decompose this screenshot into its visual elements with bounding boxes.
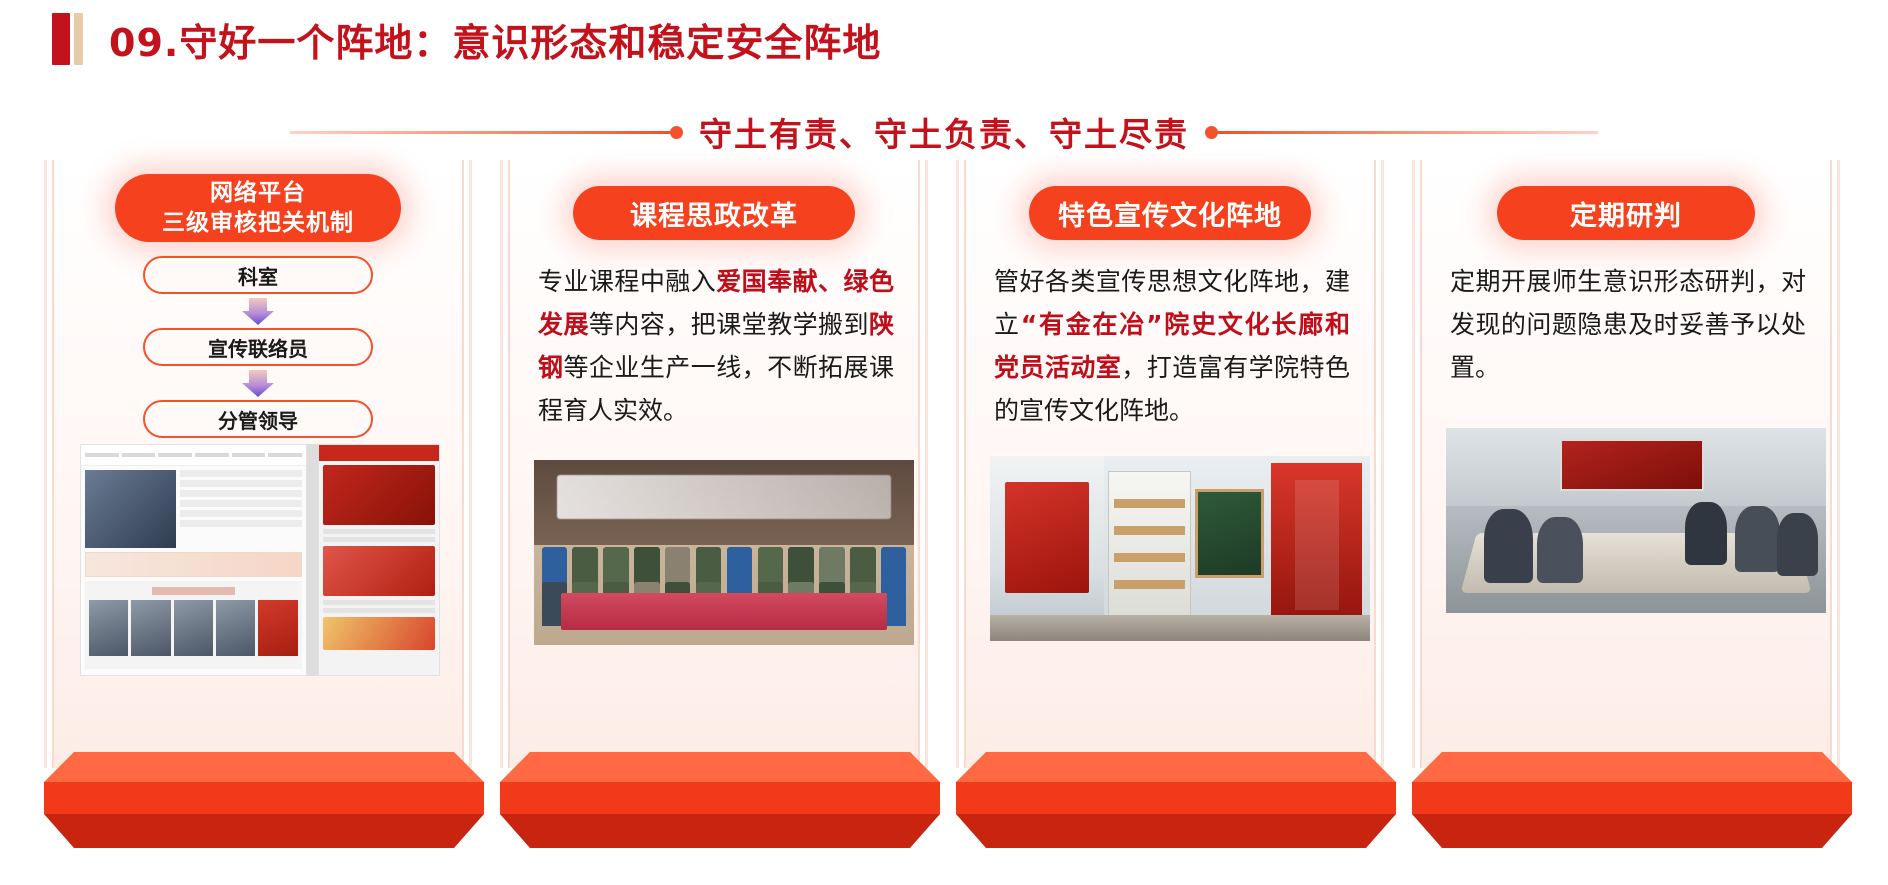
paragraph-run: 等内容，把课堂教学搬到 — [589, 310, 869, 339]
card-culture-position[interactable]: 特色宣传文化阵地 管好各类宣传思想文化阵地，建立“有金在冶”院史文化长廊和党员活… — [956, 160, 1396, 860]
card-paragraph: 专业课程中融入爱国奉献、绿色发展等内容，把课堂教学搬到陕钢等企业生产一线，不断拓… — [538, 260, 894, 432]
card-regular-review[interactable]: 定期研判 定期开展师生意识形态研判，对发现的问题隐患及时妥善予以处置。 — [1412, 160, 1852, 860]
card-photo — [80, 444, 440, 676]
card-title-line-1: 定期研判 — [1570, 194, 1682, 233]
card-title-line-1: 网络平台 — [210, 178, 306, 208]
subtitle-dot-left-icon — [670, 126, 683, 139]
card-network-platform[interactable]: 网络平台 三级审核把关机制 科室 宣传联络员 — [44, 160, 484, 860]
card-surface: 定期研判 定期开展师生意识形态研判，对发现的问题隐患及时妥善予以处置。 — [1420, 160, 1832, 768]
card-pedestal — [500, 752, 940, 856]
card-surface: 特色宣传文化阵地 管好各类宣传思想文化阵地，建立“有金在冶”院史文化长廊和党员活… — [964, 160, 1376, 768]
flow-arrow-down-icon-2 — [143, 366, 373, 400]
card-title-pill: 课程思政改革 — [573, 186, 855, 240]
card-title-pill: 特色宣传文化阵地 — [1029, 186, 1311, 240]
subtitle-line-right — [1218, 131, 1598, 134]
card-photo — [1446, 428, 1826, 613]
flow-step-2: 宣传联络员 — [143, 328, 373, 366]
page-title: 09.守好一个阵地：意识形态和稳定安全阵地 — [52, 12, 881, 66]
card-surface: 网络平台 三级审核把关机制 科室 宣传联络员 — [52, 160, 464, 768]
title-accent-bar-tan — [74, 13, 83, 65]
card-title-line-1: 课程思政改革 — [630, 194, 798, 233]
card-title-pill: 定期研判 — [1497, 186, 1755, 240]
card-row: 网络平台 三级审核把关机制 科室 宣传联络员 — [44, 160, 1856, 860]
flow-step-3: 分管领导 — [143, 400, 373, 438]
subtitle-dot-right-icon — [1205, 126, 1218, 139]
subtitle-banner: 守土有责、守土负责、守土尽责 — [0, 108, 1888, 156]
subtitle-text: 守土有责、守土负责、守土尽责 — [683, 108, 1205, 156]
card-title-line-2: 三级审核把关机制 — [162, 208, 354, 238]
flow-arrow-down-icon — [143, 294, 373, 328]
card-photo — [534, 460, 914, 645]
card-surface: 课程思政改革 专业课程中融入爱国奉献、绿色发展等内容，把课堂教学搬到陕钢等企业生… — [508, 160, 920, 768]
paragraph-run: 等企业生产一线，不断拓展课程育人实效。 — [538, 353, 894, 425]
card-paragraph: 管好各类宣传思想文化阵地，建立“有金在冶”院史文化长廊和党员活动室，打造富有学院… — [994, 260, 1350, 432]
card-photo — [990, 456, 1370, 641]
card-curriculum-reform[interactable]: 课程思政改革 专业课程中融入爱国奉献、绿色发展等内容，把课堂教学搬到陕钢等企业生… — [500, 160, 940, 860]
card-title-pill: 网络平台 三级审核把关机制 — [115, 174, 401, 242]
card-pedestal — [44, 752, 484, 856]
page-title-text: 09.守好一个阵地：意识形态和稳定安全阵地 — [109, 12, 881, 67]
paragraph-run: 专业课程中融入 — [538, 267, 716, 296]
flow-step-1: 科室 — [143, 256, 373, 294]
card-title-line-1: 特色宣传文化阵地 — [1058, 194, 1282, 233]
card-pedestal — [1412, 752, 1852, 856]
subtitle-line-left — [290, 131, 670, 134]
title-accent-bar-red — [52, 13, 70, 65]
paragraph-run: 定期开展师生意识形态研判，对发现的问题隐患及时妥善予以处置。 — [1450, 267, 1806, 382]
website-screenshot — [80, 444, 307, 676]
card-pedestal — [956, 752, 1396, 856]
approval-flow: 科室 宣传联络员 — [143, 256, 373, 438]
wechat-screenshot — [318, 444, 440, 676]
slide-root: 09.守好一个阵地：意识形态和稳定安全阵地 守土有责、守土负责、守土尽责 网络平… — [0, 0, 1888, 885]
card-paragraph: 定期开展师生意识形态研判，对发现的问题隐患及时妥善予以处置。 — [1450, 260, 1806, 389]
